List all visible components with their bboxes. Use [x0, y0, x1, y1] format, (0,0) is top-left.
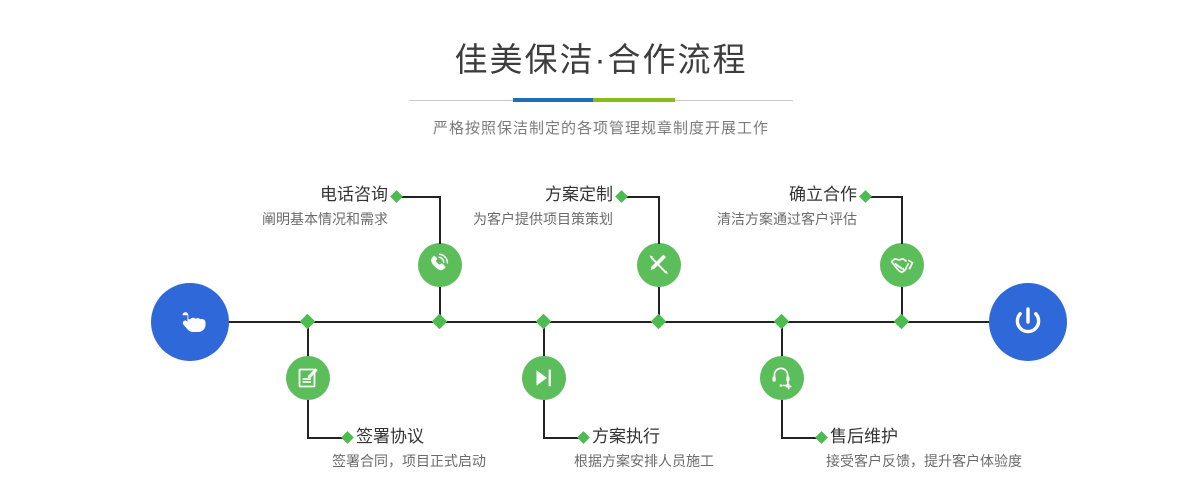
pencil-edit-icon — [646, 252, 672, 278]
step-node-top-2[interactable] — [637, 243, 681, 287]
axis-diamond-bottom-1 — [300, 314, 316, 330]
axis-diamond-top-2 — [651, 314, 667, 330]
axis-diamond-top-1 — [432, 314, 448, 330]
label-diamond-top-3 — [859, 190, 872, 203]
flow-end-node[interactable] — [989, 283, 1067, 361]
axis-diamond-bottom-3 — [774, 314, 790, 330]
step-label-top-3: 确立合作 清洁方案通过客户评估 — [624, 184, 857, 230]
elbow-vertical-bottom-2 — [543, 400, 545, 438]
flow-start-node[interactable] — [151, 283, 229, 361]
step-desc: 为客户提供项目策策划 — [380, 208, 613, 230]
step-title: 确立合作 — [624, 184, 857, 206]
flow-diagram: 电话咨询 阐明基本情况和需求 签署协议 签署合同，项目正式启动 — [0, 150, 1202, 502]
phone-call-icon — [427, 252, 453, 278]
axis-diamond-bottom-2 — [536, 314, 552, 330]
elbow-vertical-bottom-3 — [781, 400, 783, 438]
step-node-bottom-1[interactable] — [286, 356, 330, 400]
step-label-top-2: 方案定制 为客户提供项目策策划 — [380, 184, 613, 230]
play-next-icon — [531, 365, 557, 391]
elbow-horizontal-bottom-1 — [307, 437, 345, 439]
step-title: 方案定制 — [380, 184, 613, 206]
step-node-bottom-2[interactable] — [522, 356, 566, 400]
step-node-bottom-3[interactable] — [760, 356, 804, 400]
elbow-vertical-bottom-1 — [307, 400, 309, 438]
step-desc: 阐明基本情况和需求 — [150, 208, 388, 230]
step-label-top-1: 电话咨询 阐明基本情况和需求 — [150, 184, 388, 230]
page-subtitle: 严格按照保洁制定的各项管理规章制度开展工作 — [0, 117, 1202, 138]
page-header: 佳美保洁·合作流程 严格按照保洁制定的各项管理规章制度开展工作 — [0, 0, 1202, 138]
axis-diamond-top-3 — [894, 314, 910, 330]
sign-document-icon — [295, 365, 321, 391]
step-title: 售后维护 — [830, 426, 1130, 448]
handshake-icon — [889, 252, 915, 278]
step-node-top-3[interactable] — [880, 243, 924, 287]
headset-support-icon — [769, 365, 795, 391]
step-title: 电话咨询 — [150, 184, 388, 206]
elbow-horizontal-bottom-3 — [781, 437, 819, 439]
title-divider — [409, 96, 793, 106]
step-label-bottom-3: 售后维护 接受客户反馈，提升客户体验度 — [830, 426, 1130, 472]
step-node-top-1[interactable] — [418, 243, 462, 287]
power-icon — [1007, 301, 1049, 343]
step-desc: 清洁方案通过客户评估 — [624, 208, 857, 230]
divider-blue-segment — [513, 98, 593, 102]
cooperation-flow-page: 佳美保洁·合作流程 严格按照保洁制定的各项管理规章制度开展工作 — [0, 0, 1202, 502]
label-diamond-bottom-1 — [341, 431, 354, 444]
elbow-vertical-top-3 — [901, 196, 903, 244]
divider-green-segment — [593, 98, 675, 102]
page-title: 佳美保洁·合作流程 — [0, 38, 1202, 82]
step-desc: 接受客户反馈，提升客户体验度 — [826, 450, 1130, 472]
elbow-horizontal-bottom-2 — [543, 437, 581, 439]
pointing-hand-icon — [170, 302, 210, 342]
